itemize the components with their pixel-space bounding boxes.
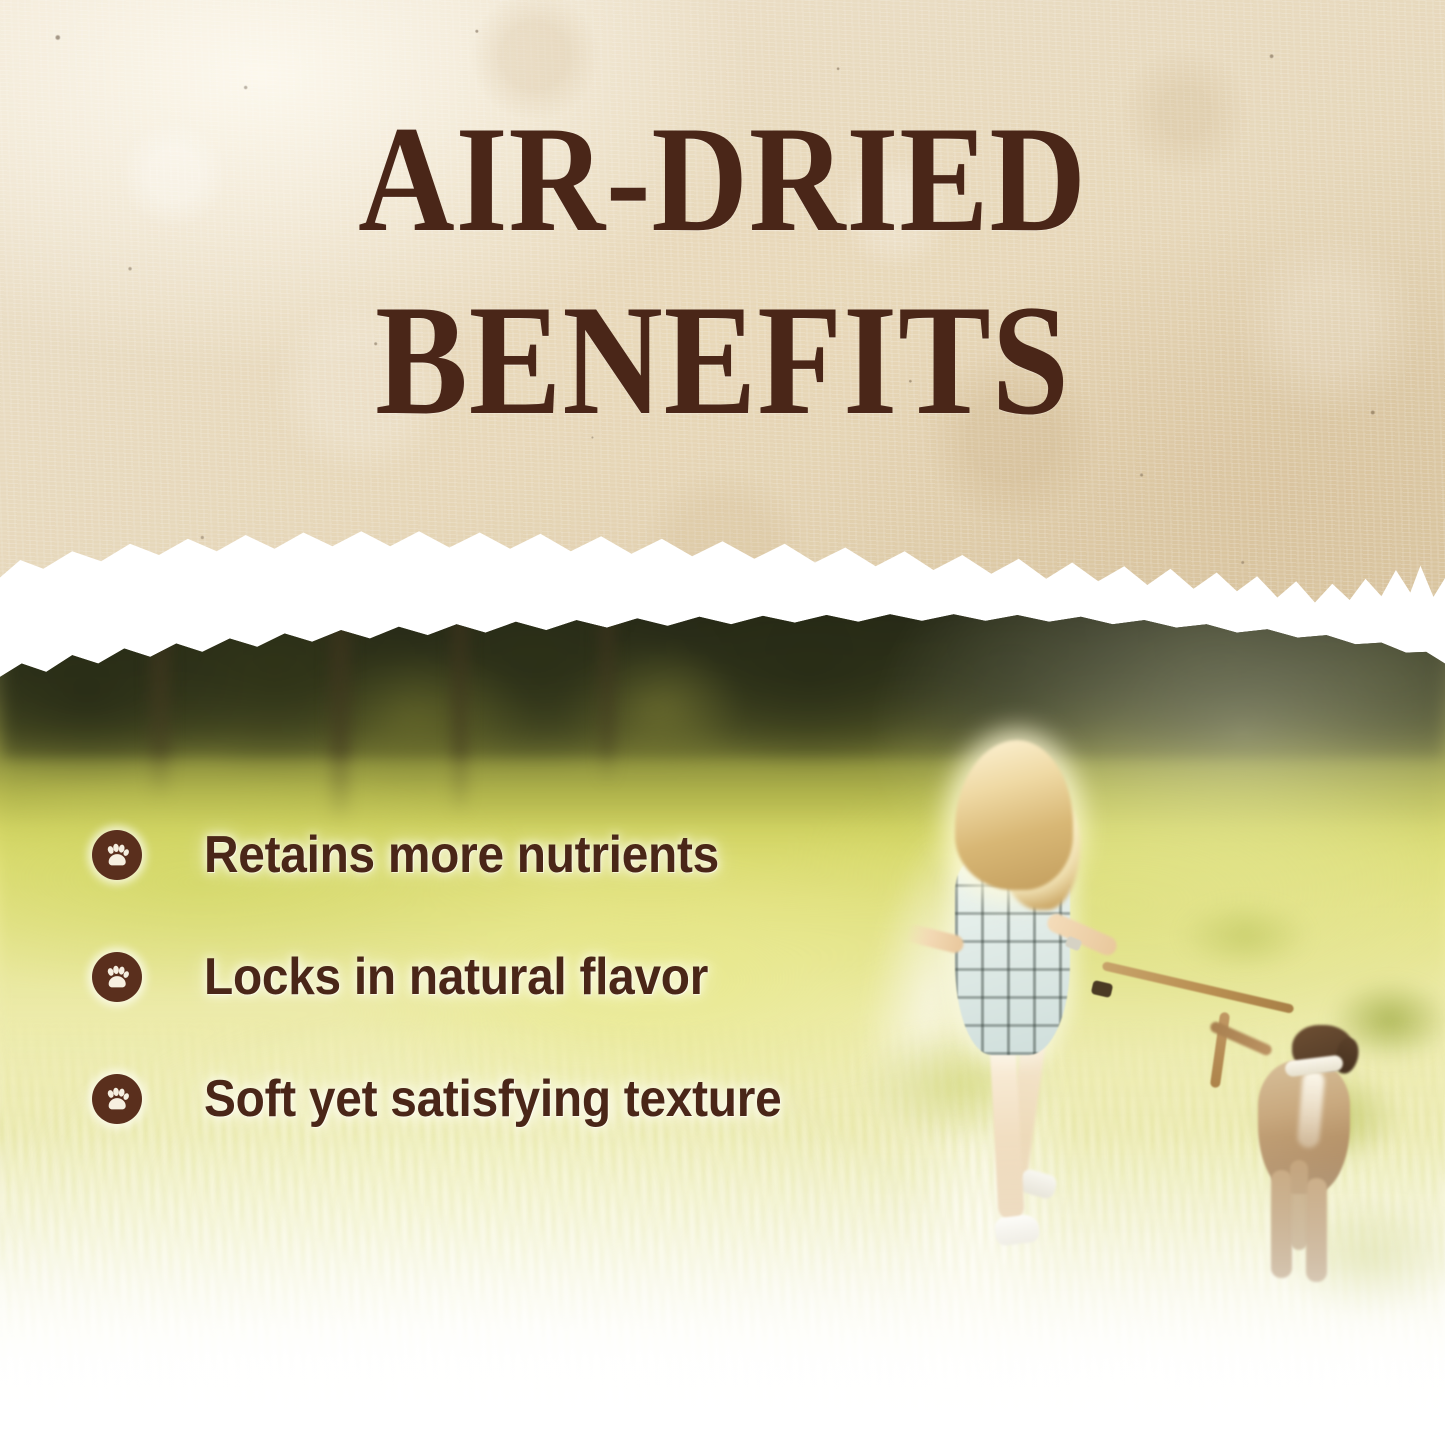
benefit-label: Soft yet satisfying texture (204, 1073, 781, 1125)
page-title: AIR-DRIED BENEFITS (0, 108, 1445, 435)
headline-line-2: BENEFITS (87, 287, 1359, 436)
list-item: Retains more nutrients (92, 818, 992, 892)
benefit-label: Locks in natural flavor (204, 951, 708, 1003)
paw-icon (92, 952, 142, 1002)
paw-icon (92, 1074, 142, 1124)
air-dried-benefits-banner: AIR-DRIED BENEFITS (0, 0, 1445, 1436)
headline-line-1: AIR-DRIED (87, 108, 1359, 251)
list-item: Soft yet satisfying texture (92, 1062, 992, 1136)
benefit-label: Retains more nutrients (204, 829, 719, 881)
benefits-list: Retains more nutrients Locks in natural … (92, 818, 992, 1136)
list-item: Locks in natural flavor (92, 940, 992, 1014)
paw-icon (92, 830, 142, 880)
bottom-white-fade (0, 1136, 1445, 1436)
